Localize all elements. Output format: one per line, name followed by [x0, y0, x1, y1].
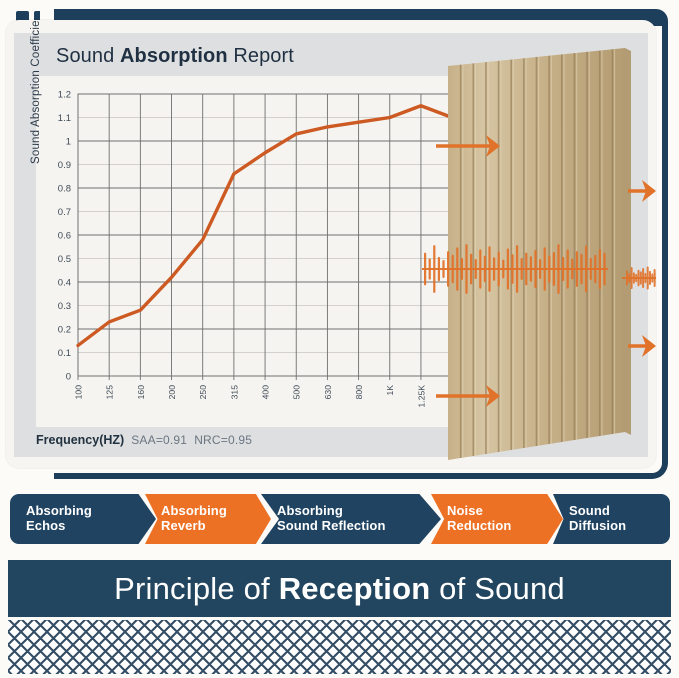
tab-label: Noise Reduction	[447, 504, 511, 534]
svg-text:0: 0	[66, 372, 71, 383]
svg-text:250: 250	[198, 385, 208, 400]
frequency-axis-label: Frequency(HZ)	[36, 433, 124, 447]
svg-text:1: 1	[66, 137, 71, 148]
lattice-pattern-strip	[8, 620, 671, 674]
tab-label: Absorbing Reverb	[161, 504, 227, 534]
tab-absorbing-sound-reflection[interactable]: Absorbing Sound Reflection	[261, 494, 441, 544]
svg-text:100: 100	[73, 385, 83, 400]
svg-text:1.2: 1.2	[58, 90, 71, 101]
nrc-value: NRC=0.95	[194, 433, 252, 447]
svg-text:160: 160	[136, 385, 146, 400]
svg-text:0.3: 0.3	[58, 301, 71, 312]
svg-text:0.9: 0.9	[58, 160, 71, 171]
svg-text:0.7: 0.7	[58, 207, 71, 218]
svg-text:315: 315	[229, 385, 239, 400]
svg-text:200: 200	[167, 385, 177, 400]
tab-label: Sound Diffusion	[569, 504, 626, 534]
report-panel: Sound Absorption Report Sound Absorption…	[14, 33, 648, 457]
svg-text:0.4: 0.4	[58, 278, 71, 289]
svg-text:0.2: 0.2	[58, 325, 71, 336]
banner-title: Principle of Reception of Sound	[114, 571, 565, 607]
svg-text:400: 400	[260, 385, 270, 400]
svg-text:0.5: 0.5	[58, 254, 71, 265]
tab-absorbing-echos[interactable]: Absorbing Echos	[10, 494, 156, 544]
acoustic-panel-illustration	[422, 46, 656, 468]
tab-absorbing-reverb[interactable]: Absorbing Reverb	[145, 494, 271, 544]
title-prefix: Sound	[56, 45, 120, 67]
tab-label: Absorbing Echos	[26, 504, 92, 534]
svg-text:1.1: 1.1	[58, 113, 71, 124]
tab-noise-reduction[interactable]: Noise Reduction	[431, 494, 563, 544]
tab-label: Absorbing Sound Reflection	[277, 504, 386, 534]
transmitted-sound-arrow	[628, 180, 656, 202]
title-bold: Absorption	[120, 45, 228, 67]
slatted-wood-panel-svg	[422, 46, 656, 468]
page-title: Sound Absorption Report	[56, 45, 294, 68]
poster-root: Sound Absorption Report Sound Absorption…	[0, 0, 679, 678]
svg-text:500: 500	[292, 385, 302, 400]
transmitted-sound-arrow	[628, 335, 656, 357]
svg-text:630: 630	[323, 385, 333, 400]
svg-text:0.6: 0.6	[58, 231, 71, 242]
tab-sound-diffusion[interactable]: Sound Diffusion	[553, 494, 670, 544]
svg-text:0.8: 0.8	[58, 184, 71, 195]
banner-bold: Reception	[279, 571, 431, 606]
svg-text:0.1: 0.1	[58, 348, 71, 359]
svg-text:800: 800	[354, 385, 364, 400]
banner-suffix: of Sound	[430, 571, 565, 606]
title-suffix: Report	[228, 45, 294, 67]
bottom-banner: Principle of Reception of Sound	[8, 560, 671, 617]
svg-text:125: 125	[105, 385, 115, 400]
banner-prefix: Principle of	[114, 571, 279, 606]
report-card: Sound Absorption Report Sound Absorption…	[6, 20, 656, 468]
svg-text:1K: 1K	[385, 385, 395, 396]
saa-value: SAA=0.91	[131, 433, 187, 447]
feature-tab-strip: Absorbing EchosAbsorbing ReverbAbsorbing…	[10, 494, 670, 544]
